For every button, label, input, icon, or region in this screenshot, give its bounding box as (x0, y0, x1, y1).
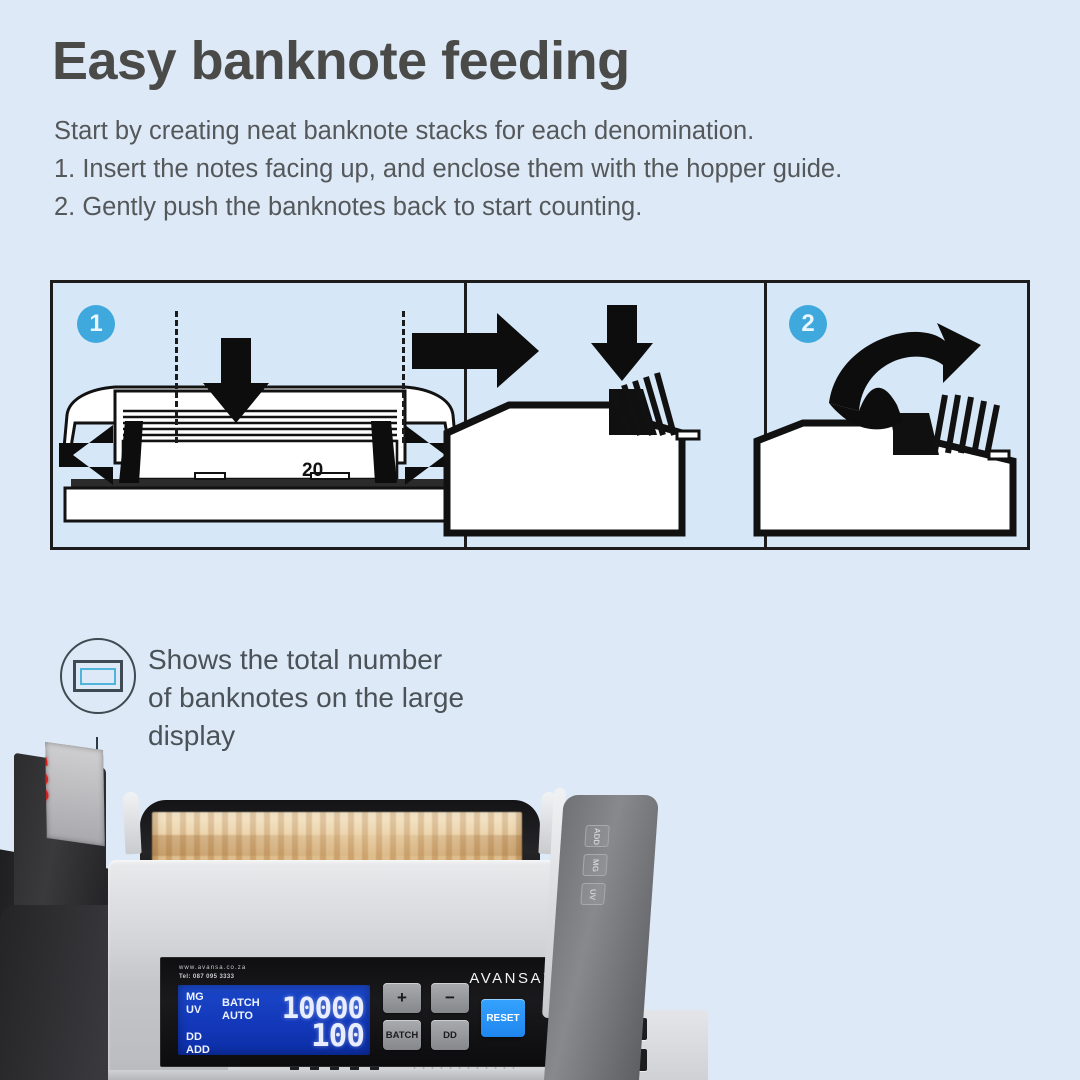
mg-side-button-label: MG (590, 859, 600, 872)
dashed-guide-line-left (175, 311, 178, 443)
led-display-value: 100 (45, 750, 53, 803)
machine-base-strip (108, 1070, 613, 1080)
screen-outer-shape (73, 660, 123, 692)
reset-button[interactable]: RESET (481, 999, 525, 1037)
minus-button[interactable]: − (431, 983, 469, 1013)
banknote-counter-machine: 100 (0, 740, 780, 1080)
display-screen-icon (60, 638, 136, 714)
machine-side-tower: ADD MG UV (544, 795, 659, 1080)
plus-button[interactable]: + (383, 983, 421, 1013)
lcd-batch-value: 100 (311, 1018, 364, 1054)
intro-step-1: 1. Insert the notes facing up, and enclo… (54, 150, 842, 188)
phone-text: Tel: 087 095 3333 (179, 974, 234, 980)
step-badge-1: 1 (77, 305, 115, 343)
batch-button[interactable]: BATCH (383, 1020, 421, 1050)
avansa-brand-logo: AVANSA™ (469, 970, 549, 987)
lcd-mode-labels: BATCH AUTO (222, 997, 260, 1023)
red-led-customer-display: 100 (45, 742, 105, 846)
lcd-mode-flags: MG UV DD ADD (186, 991, 210, 1055)
push-notes-art (467, 283, 767, 550)
intro-lead: Start by creating neat banknote stacks f… (54, 112, 842, 150)
mg-side-button[interactable]: MG (582, 854, 608, 876)
lcd-label-batch: BATCH (222, 997, 260, 1010)
website-text: www.avansa.co.za (179, 964, 246, 973)
contact-info: www.avansa.co.za Tel: 087 095 3333 (179, 964, 246, 982)
screen-inner-shape (80, 668, 116, 685)
dd-button[interactable]: DD (431, 1020, 469, 1050)
instruction-illustration-frame: 1 (50, 280, 1030, 550)
lcd-flag-add: ADD (186, 1044, 210, 1055)
uv-side-button[interactable]: UV (580, 883, 606, 905)
intro-step-2: 2. Gently push the banknotes back to sta… (54, 188, 842, 226)
illustration-panel-1: 1 (53, 283, 467, 547)
dashed-guide-line-right (402, 311, 405, 443)
step-badge-2: 2 (789, 305, 827, 343)
page-root: Easy banknote feeding Start by creating … (0, 0, 1080, 1080)
denomination-label-20: 20 (302, 460, 323, 482)
callout-line-1: Shows the total number (148, 641, 464, 679)
uv-side-button-label: UV (588, 888, 598, 899)
lcd-flag-uv: UV (186, 1004, 210, 1017)
callout-line-2: of banknotes on the large (148, 679, 464, 717)
intro-text-block: Start by creating neat banknote stacks f… (54, 112, 842, 226)
lcd-flag-dd: DD (186, 1031, 210, 1044)
illustration-panel-3: 2 (767, 283, 1027, 547)
page-title: Easy banknote feeding (52, 30, 630, 92)
lcd-label-auto: AUTO (222, 1010, 260, 1023)
callout-description: Shows the total number of banknotes on t… (148, 641, 464, 755)
add-side-button[interactable]: ADD (584, 825, 610, 847)
add-side-button-label: ADD (592, 827, 602, 844)
lcd-display: MG UV DD ADD BATCH AUTO 10000 100 (178, 985, 370, 1055)
avansa-wordmark: AVANSA (469, 970, 543, 987)
side-button-group: ADD MG UV (580, 825, 610, 905)
lcd-flag-mg: MG (186, 991, 210, 1004)
hopper-guide-left[interactable] (122, 792, 141, 855)
illustration-panel-2 (467, 283, 767, 547)
control-panel: www.avansa.co.za Tel: 087 095 3333 MG UV… (160, 957, 560, 1067)
